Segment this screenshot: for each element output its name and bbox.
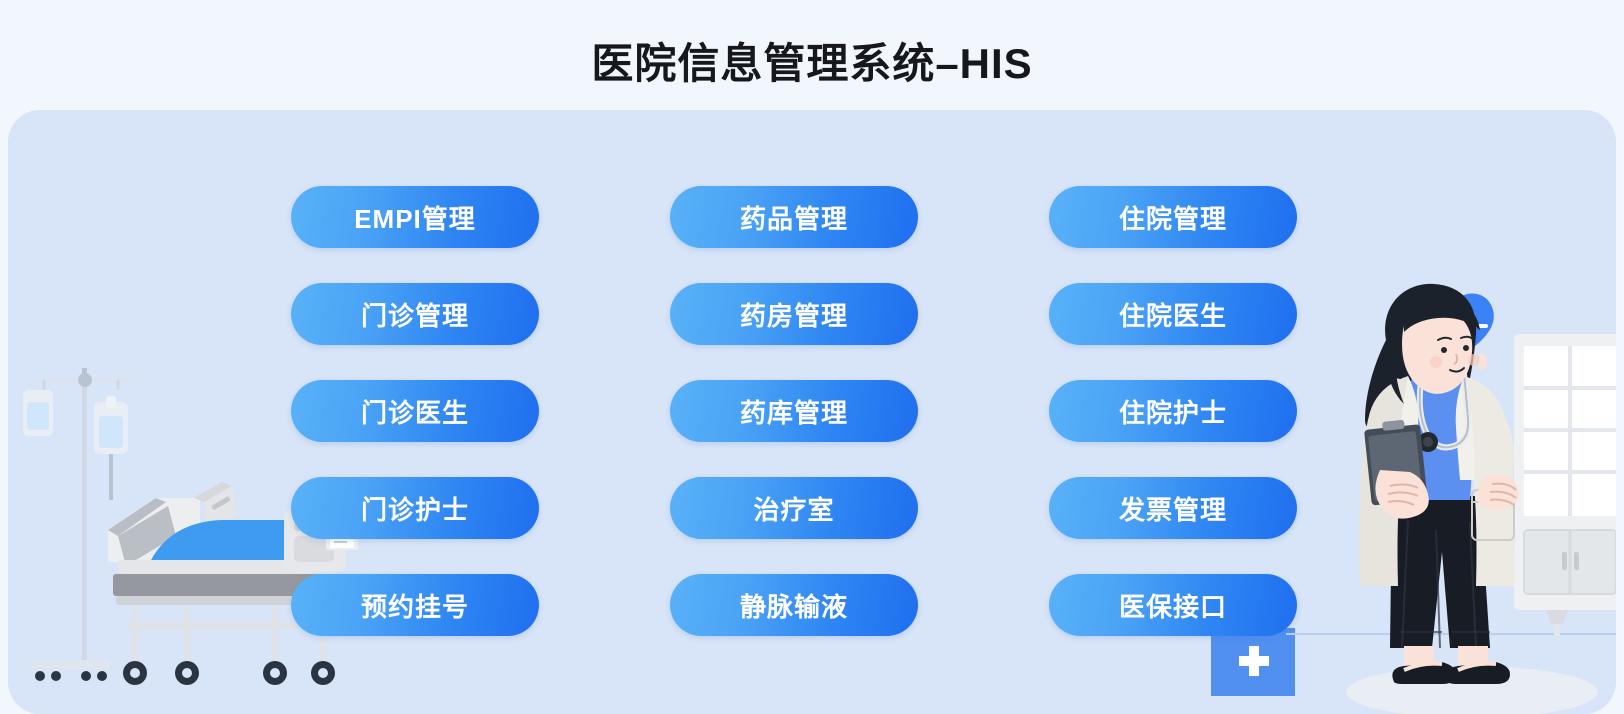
module-button-intravenous-infusion[interactable]: 静脉输液 — [670, 574, 918, 636]
medical-cabinet — [1514, 334, 1616, 636]
page-title: 医院信息管理系统–HIS — [0, 30, 1624, 91]
module-button-medical-insurance-interface[interactable]: 医保接口 — [1049, 574, 1297, 636]
module-button-outpatient-nurse[interactable]: 门诊护士 — [291, 477, 539, 539]
module-button-outpatient-management[interactable]: 门诊管理 — [291, 283, 539, 345]
module-button-inpatient-management[interactable]: 住院管理 — [1049, 186, 1297, 248]
module-button-outpatient-doctor[interactable]: 门诊医生 — [291, 380, 539, 442]
module-button-appointment-registration[interactable]: 预约挂号 — [291, 574, 539, 636]
module-column-pharmacy: 药品管理 药房管理 药库管理 治疗室 静脉输液 — [670, 186, 920, 636]
module-button-inpatient-doctor[interactable]: 住院医生 — [1049, 283, 1297, 345]
module-button-drug-warehouse-management[interactable]: 药库管理 — [670, 380, 918, 442]
module-button-invoice-management[interactable]: 发票管理 — [1049, 477, 1297, 539]
module-column-inpatient: 住院管理 住院医生 住院护士 发票管理 医保接口 — [1049, 186, 1299, 636]
content-panel: EMPI管理 门诊管理 门诊医生 门诊护士 预约挂号 药品管理 药房管理 药库管… — [8, 110, 1616, 714]
iv-bag — [23, 390, 128, 500]
module-button-treatment-room[interactable]: 治疗室 — [670, 477, 918, 539]
doctor-white-coat — [1359, 376, 1515, 586]
doctor-hair — [1365, 284, 1476, 430]
doctor-left-hand — [1375, 470, 1428, 519]
doctor-shoes — [1392, 662, 1510, 684]
iv-drip-stand — [30, 368, 134, 681]
doctor-clipboard — [1364, 420, 1428, 506]
module-column-outpatient: EMPI管理 门诊管理 门诊医生 门诊护士 预约挂号 — [291, 186, 541, 636]
heart-pulse-icon — [1414, 293, 1494, 362]
doctor-scrub-top — [1404, 372, 1471, 500]
stethoscope — [1418, 374, 1468, 452]
module-button-empi-management[interactable]: EMPI管理 — [291, 186, 539, 248]
female-doctor-illustration — [1286, 280, 1616, 714]
doctor-right-arm — [1468, 398, 1519, 510]
module-button-grid: EMPI管理 门诊管理 门诊医生 门诊护士 预约挂号 药品管理 药房管理 药库管… — [283, 186, 1298, 676]
doctor-pants — [1390, 496, 1490, 648]
doctor-head — [1386, 299, 1487, 404]
module-button-pharmacy-management[interactable]: 药房管理 — [670, 283, 918, 345]
doctor-ankles — [1404, 646, 1488, 668]
his-dashboard-page: 医院信息管理系统–HIS — [0, 0, 1624, 714]
module-button-inpatient-nurse[interactable]: 住院护士 — [1049, 380, 1297, 442]
module-button-drug-management[interactable]: 药品管理 — [670, 186, 918, 248]
